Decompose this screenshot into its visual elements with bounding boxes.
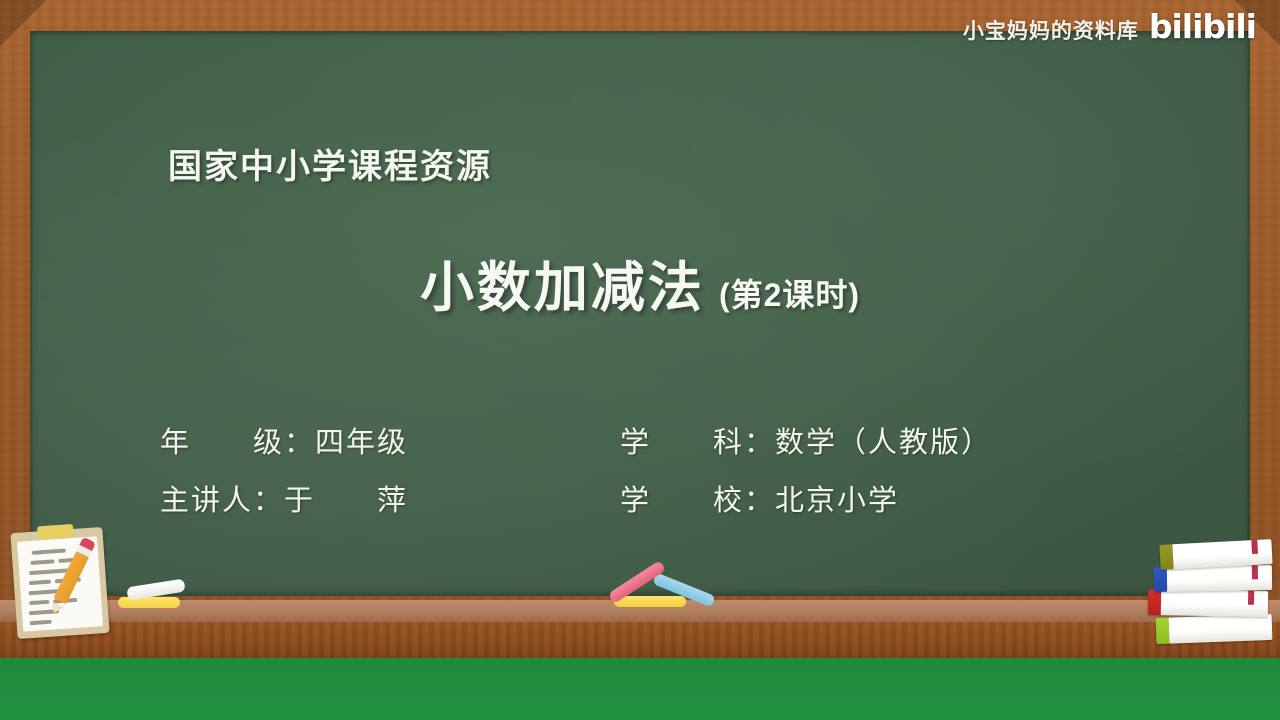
chalk-ledge <box>0 600 1280 658</box>
info-school: 学 校：北京小学 <box>620 477 1080 519</box>
chalk-yellow-left-icon <box>118 597 180 608</box>
lesson-title-slide: 国家中小学课程资源 小数加减法 (第2课时) 年 级：四年级 学 科：数学（人教… <box>0 0 1280 720</box>
book-pages <box>1172 539 1272 569</box>
clipboard-clip <box>37 524 74 539</box>
paper-line <box>32 549 66 555</box>
lesson-title: 小数加减法 <box>420 243 705 322</box>
floor-background <box>0 655 1280 720</box>
paper-line <box>29 580 51 586</box>
paper-line <box>29 568 69 575</box>
book-green <box>1156 614 1273 644</box>
paper-line <box>30 620 52 626</box>
book-bookmark <box>1248 591 1254 605</box>
bilibili-logo-icon: bilibili <box>1149 7 1256 46</box>
lesson-info-grid: 年 级：四年级 学 科：数学（人教版） 主讲人：于 萍 学 校：北京小学 <box>160 419 1160 519</box>
info-subject: 学 科：数学（人教版） <box>620 419 1080 461</box>
uploader-name: 小宝妈妈的资料库 <box>963 15 1139 45</box>
page-title: 国家中小学课程资源 <box>168 139 492 188</box>
book-bookmark <box>1251 540 1258 554</box>
book-spine <box>1156 618 1170 644</box>
info-lecturer: 主讲人：于 萍 <box>160 477 620 519</box>
ledge-front-face <box>0 622 1280 658</box>
book-pages <box>1169 614 1273 644</box>
book-bookmark <box>1252 565 1258 579</box>
book-spine <box>1159 544 1173 570</box>
lesson-title-row: 小数加减法 (第2课时) <box>30 243 1250 322</box>
paper-line <box>29 600 49 605</box>
book-spine <box>1154 567 1167 592</box>
book-spine <box>1148 589 1161 615</box>
book-red <box>1148 589 1268 617</box>
paper-line <box>30 559 54 565</box>
chalkboard-surface: 国家中小学课程资源 小数加减法 (第2课时) 年 级：四年级 学 科：数学（人教… <box>30 31 1250 596</box>
lesson-session-label: (第2课时) <box>719 270 860 316</box>
book-stack-icon <box>1148 528 1274 648</box>
info-grade: 年 级：四年级 <box>160 419 620 461</box>
channel-watermark: 小宝妈妈的资料库 bilibili <box>963 10 1256 49</box>
chalk-yellow-icon <box>614 596 686 607</box>
